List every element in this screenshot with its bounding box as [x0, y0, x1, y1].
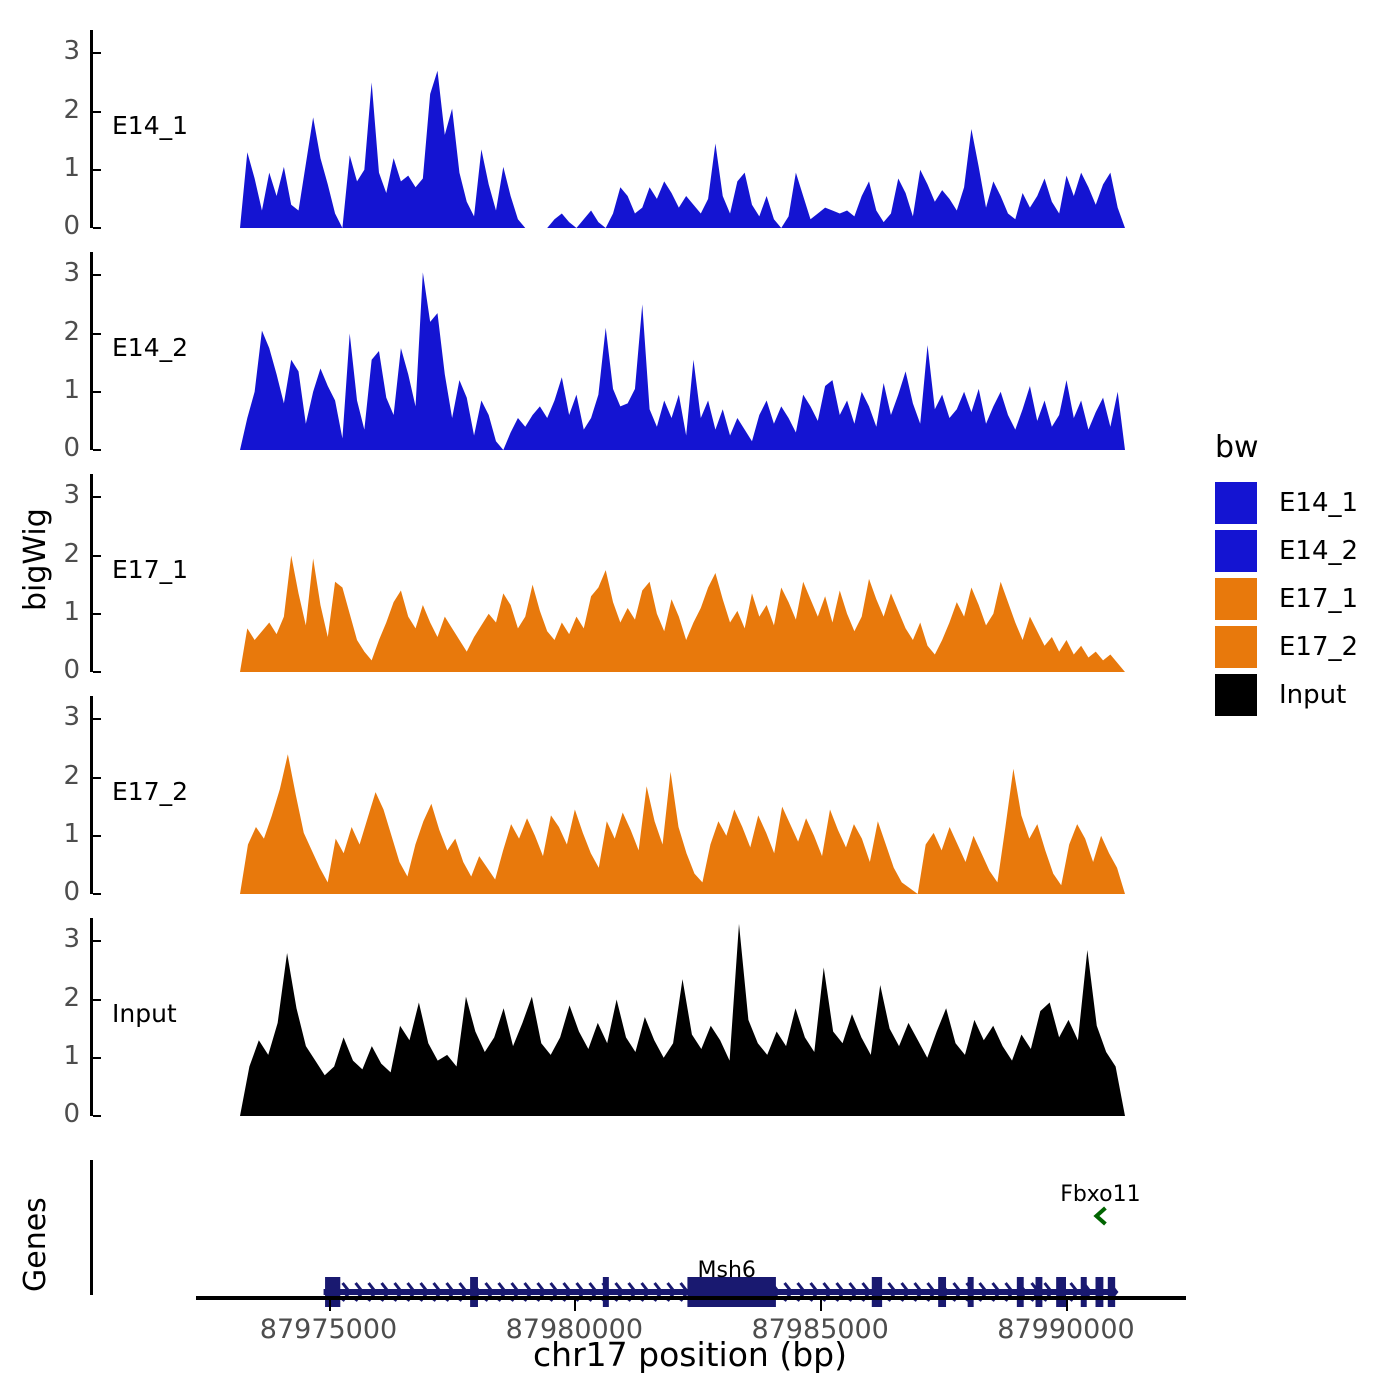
y-tick-label: 0 — [34, 1099, 80, 1129]
y-tick-label: 1 — [34, 1041, 80, 1071]
y-tick-label: 0 — [34, 877, 80, 907]
y-tick-label: 2 — [34, 539, 80, 569]
legend-label: E14_1 — [1279, 488, 1358, 518]
x-tick — [329, 1300, 331, 1311]
legend-color-swatch — [1215, 530, 1257, 572]
legend-item-e17_2[interactable]: E17_2 — [1215, 626, 1358, 668]
gene-exon — [968, 1277, 974, 1307]
gene-exon — [1036, 1277, 1043, 1307]
y-tick-label: 1 — [34, 153, 80, 183]
plot-area — [240, 252, 1125, 450]
y-axis-line — [90, 474, 93, 672]
y-tick-label: 2 — [34, 95, 80, 125]
y-tick-label: 1 — [34, 597, 80, 627]
y-tick — [93, 333, 101, 335]
y-tick — [93, 777, 101, 779]
y-tick — [93, 52, 101, 54]
y-tick-label: 3 — [34, 480, 80, 510]
x-axis-title: chr17 position (bp) — [190, 1335, 1190, 1374]
signal-panel-input: 0123Input — [90, 918, 1145, 1116]
signal-panel-e14_1: 0123E14_1 — [90, 30, 1145, 228]
y-tick — [93, 835, 101, 837]
legend-label: E14_2 — [1279, 536, 1358, 566]
y-axis-line — [90, 30, 93, 228]
gene-label-fbxo11: Fbxo11 — [990, 1182, 1210, 1207]
y-axis-line — [90, 252, 93, 450]
panel-label-e14_1: E14_1 — [112, 111, 188, 140]
gene-exon — [1081, 1277, 1087, 1307]
gene-exon — [1108, 1277, 1115, 1307]
y-tick-label: 2 — [34, 761, 80, 791]
gene-exon — [1096, 1277, 1104, 1307]
y-tick — [93, 1115, 101, 1117]
panel-label-e17_1: E17_1 — [112, 555, 188, 584]
y-tick-label: 1 — [34, 375, 80, 405]
signal-area-e14_2 — [240, 252, 1125, 450]
y-tick — [93, 111, 101, 113]
x-axis-line — [196, 1296, 1186, 1300]
panel-label-e14_2: E14_2 — [112, 333, 188, 362]
gene-exon — [325, 1277, 340, 1307]
gene-label-msh6: Msh6 — [617, 1258, 837, 1283]
y-tick — [93, 1057, 101, 1059]
y-tick — [93, 449, 101, 451]
y-tick — [93, 999, 101, 1001]
signal-panel-e14_2: 0123E14_2 — [90, 252, 1145, 450]
y-tick-label: 1 — [34, 819, 80, 849]
gene-exon — [938, 1277, 946, 1307]
legend-label: E17_2 — [1279, 632, 1358, 662]
signal-area-input — [240, 918, 1125, 1116]
panel-label-input: Input — [112, 999, 177, 1028]
y-tick — [93, 169, 101, 171]
y-tick-label: 3 — [34, 924, 80, 954]
y-tick — [93, 555, 101, 557]
x-tick — [1066, 1300, 1068, 1311]
signal-area-e17_1 — [240, 474, 1125, 672]
signal-area-e17_2 — [240, 696, 1125, 894]
legend-color-swatch — [1215, 626, 1257, 668]
gene-exon — [1017, 1277, 1024, 1307]
signal-panel-e17_2: 0123E17_2 — [90, 696, 1145, 894]
fbxo11-strand-arrow — [1096, 1208, 1105, 1224]
y-tick — [93, 496, 101, 498]
legend-color-swatch — [1215, 578, 1257, 620]
y-tick-label: 0 — [34, 211, 80, 241]
y-tick-label: 2 — [34, 983, 80, 1013]
x-tick — [820, 1300, 822, 1311]
y-tick — [93, 274, 101, 276]
legend-title: bw — [1215, 430, 1259, 465]
y-tick — [93, 718, 101, 720]
y-tick-label: 0 — [34, 433, 80, 463]
y-tick — [93, 613, 101, 615]
gene-exon — [1056, 1277, 1066, 1307]
y-tick-label: 3 — [34, 258, 80, 288]
genome-browser-figure: bigWig Genes 0123E14_10123E14_20123E17_1… — [0, 0, 1400, 1400]
gene-exon — [872, 1277, 882, 1307]
y-tick — [93, 940, 101, 942]
plot-area — [240, 918, 1125, 1116]
legend-item-e14_1[interactable]: E14_1 — [1215, 482, 1358, 524]
legend-item-e17_1[interactable]: E17_1 — [1215, 578, 1358, 620]
panel-label-e17_2: E17_2 — [112, 777, 188, 806]
plot-area — [240, 696, 1125, 894]
y-tick — [93, 893, 101, 895]
y-tick-label: 2 — [34, 317, 80, 347]
legend-color-swatch — [1215, 674, 1257, 716]
y-tick — [93, 391, 101, 393]
legend-color-swatch — [1215, 482, 1257, 524]
y-tick — [93, 227, 101, 229]
y-tick-label: 3 — [34, 702, 80, 732]
plot-area — [240, 30, 1125, 228]
legend-label: E17_1 — [1279, 584, 1358, 614]
legend-item-e14_2[interactable]: E14_2 — [1215, 530, 1358, 572]
signal-area-e14_1 — [240, 30, 1125, 228]
legend-label: Input — [1279, 680, 1346, 710]
signal-panel-e17_1: 0123E17_1 — [90, 474, 1145, 672]
y-tick — [93, 671, 101, 673]
gene-exon — [470, 1277, 478, 1307]
legend-item-input[interactable]: Input — [1215, 674, 1346, 716]
x-tick — [574, 1300, 576, 1311]
plot-area — [240, 474, 1125, 672]
y-tick-label: 0 — [34, 655, 80, 685]
gene-exon — [603, 1277, 609, 1307]
y-axis-line — [90, 918, 93, 1116]
y-tick-label: 3 — [34, 36, 80, 66]
y-axis-line — [90, 696, 93, 894]
